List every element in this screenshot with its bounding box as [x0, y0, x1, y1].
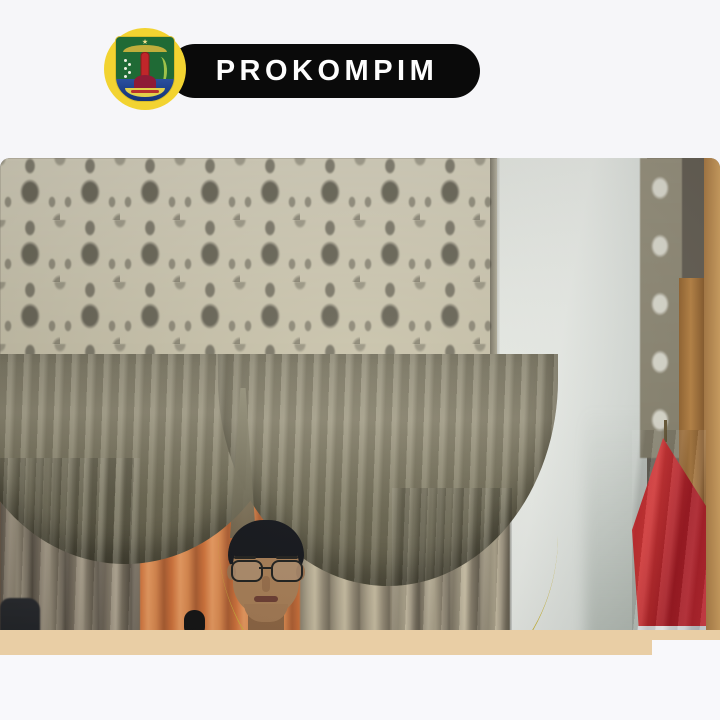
brand-pill: PROKOMPIM: [168, 44, 480, 98]
glasses-lens-left: [231, 560, 263, 582]
wood-trim-right: [704, 158, 720, 666]
bottom-strip: [0, 700, 720, 720]
glasses-bridge: [259, 567, 273, 569]
speaker-eyebrow-left: [234, 556, 256, 559]
brand-title: PROKOMPIM: [210, 57, 439, 86]
damask-sliver: [640, 158, 682, 458]
emblem-top-banner: [123, 45, 167, 52]
coat-of-arms-icon: ★: [104, 28, 186, 110]
photo-scene: [0, 158, 720, 666]
speaker-mouth: [254, 596, 278, 602]
emblem-dome: [134, 75, 156, 88]
emblem-shield: ★: [115, 36, 175, 102]
bottom-right-fill: [652, 640, 720, 720]
brand-header: PROKOMPIM ★: [104, 28, 484, 110]
speaker-eyebrow-right: [276, 556, 298, 559]
glasses-lens-right: [271, 560, 303, 582]
speaker-hair-front: [229, 528, 303, 558]
event-photo: [0, 158, 720, 666]
speaker-nose: [262, 576, 270, 592]
screenshot-canvas: PROKOMPIM ★: [0, 0, 720, 720]
